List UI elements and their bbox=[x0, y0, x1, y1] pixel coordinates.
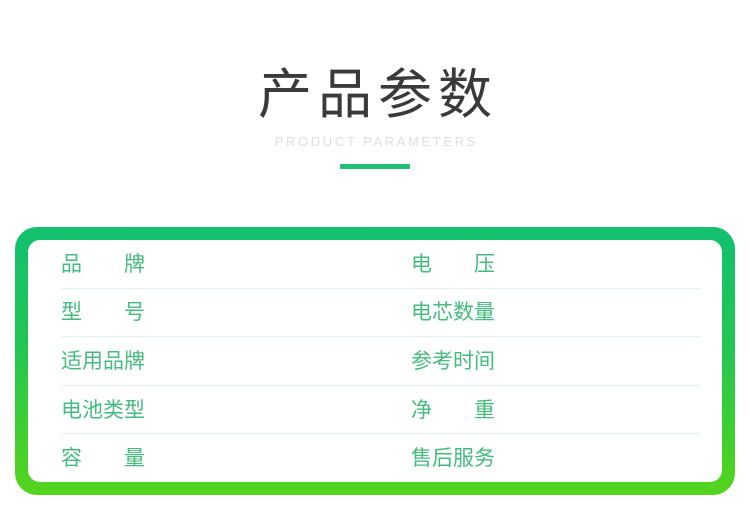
spec-cell-right: 净 重 bbox=[411, 397, 722, 423]
table-row: 适用品牌 参考时间 bbox=[61, 337, 700, 386]
spec-cell-left: 品 牌 bbox=[61, 251, 411, 277]
spec-cell-right: 电 压 bbox=[411, 251, 722, 277]
spec-label-after-sales-service: 售后服务 bbox=[411, 445, 495, 471]
spec-cell-left: 电池类型 bbox=[61, 397, 411, 423]
spec-label-applicable-brand: 适用品牌 bbox=[61, 348, 145, 374]
page-header: 产品参数 PRODUCT PARAMETERS bbox=[0, 0, 750, 169]
spec-cell-right: 参考时间 bbox=[411, 348, 722, 374]
spec-card-inner: 品 牌 电 压 型 号 电芯数量 适用品牌 参考时间 bbox=[28, 240, 722, 482]
spec-label-reference-time: 参考时间 bbox=[411, 348, 495, 374]
page-title: 产品参数 bbox=[0, 64, 750, 126]
spec-cell-right: 电芯数量 bbox=[411, 299, 722, 325]
table-row: 品 牌 电 压 bbox=[61, 240, 700, 289]
spec-table: 品 牌 电 压 型 号 电芯数量 适用品牌 参考时间 bbox=[61, 240, 700, 482]
spec-label-voltage: 电 压 bbox=[411, 251, 495, 277]
table-row: 电池类型 净 重 bbox=[61, 386, 700, 435]
table-row: 容 量 售后服务 bbox=[61, 434, 700, 482]
page-subtitle: PRODUCT PARAMETERS bbox=[0, 134, 750, 150]
spec-cell-left: 容 量 bbox=[61, 445, 411, 471]
spec-card: 品 牌 电 压 型 号 电芯数量 适用品牌 参考时间 bbox=[15, 227, 735, 495]
spec-label-battery-type: 电池类型 bbox=[61, 397, 145, 423]
spec-label-brand: 品 牌 bbox=[61, 251, 145, 277]
spec-label-model: 型 号 bbox=[61, 299, 145, 325]
table-row: 型 号 电芯数量 bbox=[61, 289, 700, 338]
title-accent-rule bbox=[340, 164, 410, 169]
spec-cell-right: 售后服务 bbox=[411, 445, 722, 471]
spec-cell-left: 型 号 bbox=[61, 299, 411, 325]
spec-label-net-weight: 净 重 bbox=[411, 397, 495, 423]
spec-label-capacity: 容 量 bbox=[61, 445, 145, 471]
spec-cell-left: 适用品牌 bbox=[61, 348, 411, 374]
spec-label-cell-count: 电芯数量 bbox=[411, 299, 495, 325]
